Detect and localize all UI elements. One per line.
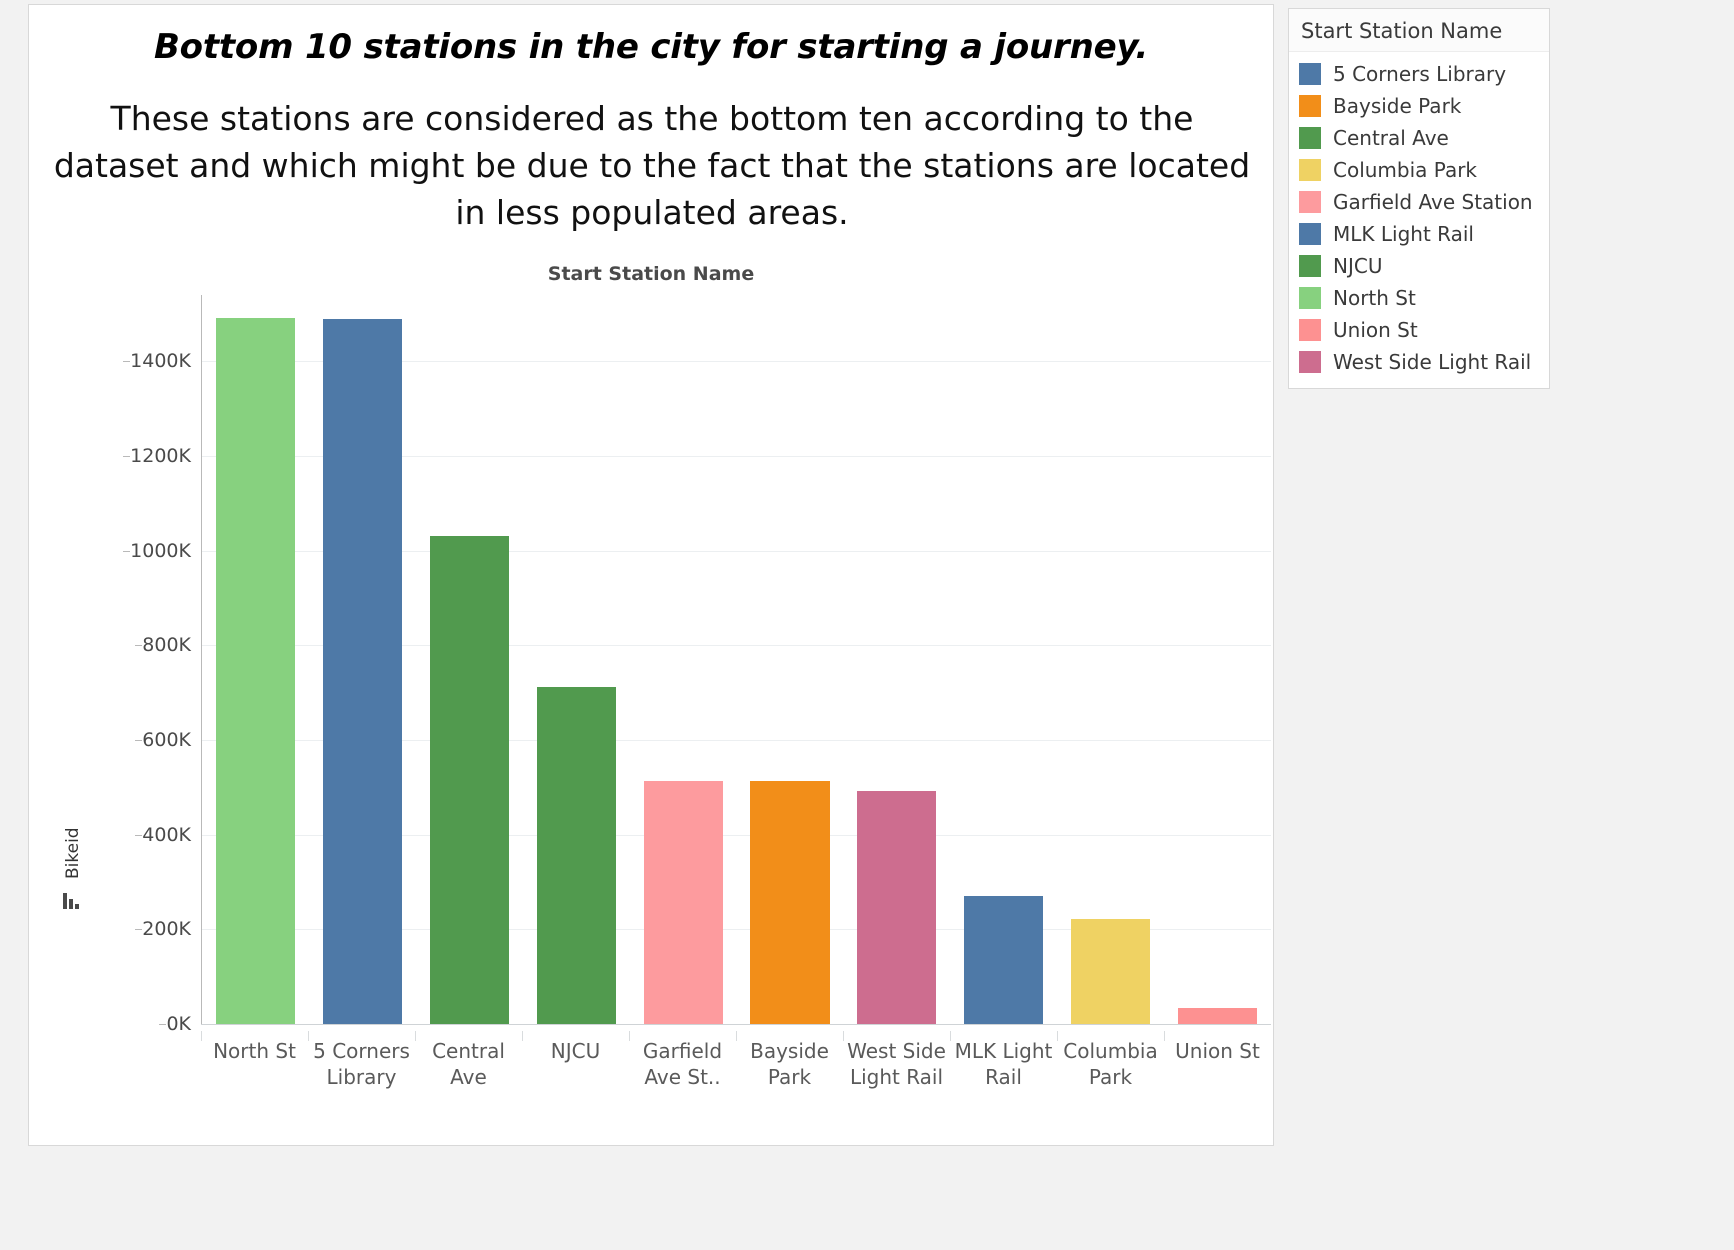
y-axis-tick-label: 1200K — [130, 445, 191, 467]
legend-item[interactable]: Central Ave — [1289, 122, 1549, 154]
x-axis-tick-divider — [1057, 1031, 1058, 1041]
y-axis-tick-label: 0K — [166, 1013, 191, 1035]
x-axis-tick-divider — [415, 1031, 416, 1041]
x-axis-tick-label[interactable]: Columbia Park — [1057, 1031, 1164, 1131]
x-axis-tick-text: Columbia Park — [1063, 1039, 1157, 1089]
visualization-card: Bottom 10 stations in the city for start… — [28, 4, 1274, 1146]
page-subtitle: These stations are considered as the bot… — [39, 95, 1265, 237]
x-axis-tick-divider — [629, 1031, 630, 1041]
legend-item-label: MLK Light Rail — [1333, 222, 1474, 246]
bar-slot — [309, 295, 416, 1024]
bar-slot — [416, 295, 523, 1024]
legend-item[interactable]: West Side Light Rail — [1289, 346, 1549, 378]
x-axis-tick-text: West Side Light Rail — [847, 1039, 946, 1089]
x-axis-tick-label[interactable]: Bayside Park — [736, 1031, 843, 1131]
bar-slot — [950, 295, 1057, 1024]
legend-item[interactable]: Bayside Park — [1289, 90, 1549, 122]
legend-item-label: Bayside Park — [1333, 94, 1461, 118]
x-axis-line — [201, 1024, 1271, 1025]
y-axis-tick-label: 800K — [142, 634, 191, 656]
x-axis-tick-text: Bayside Park — [750, 1039, 829, 1089]
screenshot-root: Bottom 10 stations in the city for start… — [0, 0, 1734, 1250]
y-axis-tick-mark — [135, 929, 142, 930]
legend-item-label: West Side Light Rail — [1333, 350, 1531, 374]
bar-slot — [843, 295, 950, 1024]
legend-item-label: Garfield Ave Station — [1333, 190, 1533, 214]
x-axis-tick-label[interactable]: NJCU — [522, 1031, 629, 1131]
bar-chart-icon — [63, 891, 83, 909]
bar[interactable] — [537, 687, 616, 1024]
x-axis-tick-text: NJCU — [551, 1039, 600, 1063]
bar-series — [202, 295, 1271, 1024]
y-axis-title: Bikeid — [63, 855, 83, 879]
x-axis-tick-text: Central Ave — [432, 1039, 505, 1089]
legend-item[interactable]: North St — [1289, 282, 1549, 314]
bar[interactable] — [964, 896, 1043, 1024]
legend-panel: Start Station Name 5 Corners LibraryBays… — [1288, 8, 1550, 389]
page-title: Bottom 10 stations in the city for start… — [29, 27, 1273, 67]
chart-header-title: Start Station Name — [29, 263, 1273, 285]
x-axis-tick-text: North St — [213, 1039, 296, 1063]
x-axis-tick-text: MLK Light Rail — [955, 1039, 1053, 1089]
bar[interactable] — [750, 781, 829, 1024]
y-axis-tick-label: 200K — [142, 918, 191, 940]
bar-slot — [1057, 295, 1164, 1024]
x-axis-tick-divider — [950, 1031, 951, 1041]
legend-item[interactable]: Union St — [1289, 314, 1549, 346]
bar[interactable] — [1178, 1008, 1257, 1024]
x-axis-tick-divider — [843, 1031, 844, 1041]
x-axis-tick-label[interactable]: 5 Corners Library — [308, 1031, 415, 1131]
legend-color-swatch[interactable] — [1299, 191, 1321, 213]
bar[interactable] — [857, 791, 936, 1024]
y-axis-tick-mark — [123, 456, 130, 457]
legend-item[interactable]: Garfield Ave Station — [1289, 186, 1549, 218]
bar[interactable] — [430, 536, 509, 1024]
y-axis-tick-mark — [135, 645, 142, 646]
y-axis-title-label: Bikeid — [63, 827, 83, 879]
x-axis-tick-divider — [308, 1031, 309, 1041]
x-axis-tick-divider — [1164, 1031, 1165, 1041]
legend-item-label: Columbia Park — [1333, 158, 1477, 182]
legend-color-swatch[interactable] — [1299, 127, 1321, 149]
plot-wrapper: Bikeid 0K200K400K600K800K1000K1200K1400K… — [29, 295, 1275, 1145]
x-axis-tick-label[interactable]: North St — [201, 1031, 308, 1131]
bar[interactable] — [1071, 919, 1150, 1024]
legend-item-label: North St — [1333, 286, 1416, 310]
legend-item[interactable]: NJCU — [1289, 250, 1549, 282]
bar-slot — [1164, 295, 1271, 1024]
legend-title: Start Station Name — [1289, 9, 1549, 52]
x-axis-tick-text: Union St — [1175, 1039, 1260, 1063]
legend-item-list: 5 Corners LibraryBayside ParkCentral Ave… — [1289, 52, 1549, 378]
y-axis-tick-mark — [135, 835, 142, 836]
x-axis-tick-label[interactable]: Central Ave — [415, 1031, 522, 1131]
legend-item-label: Union St — [1333, 318, 1418, 342]
y-axis-tick-label: 600K — [142, 729, 191, 751]
y-axis-tick-mark — [123, 551, 130, 552]
plot-area — [201, 295, 1271, 1024]
y-axis-tick-mark — [159, 1024, 166, 1025]
bar[interactable] — [323, 319, 402, 1024]
bar[interactable] — [644, 781, 723, 1024]
x-axis-labels: North St5 Corners LibraryCentral AveNJCU… — [201, 1031, 1271, 1131]
bar-slot — [523, 295, 630, 1024]
x-axis-tick-label[interactable]: West Side Light Rail — [843, 1031, 950, 1131]
legend-item-label: Central Ave — [1333, 126, 1449, 150]
x-axis-tick-divider — [736, 1031, 737, 1041]
y-axis-tick-label: 1000K — [130, 540, 191, 562]
legend-color-swatch[interactable] — [1299, 159, 1321, 181]
legend-item[interactable]: 5 Corners Library — [1289, 58, 1549, 90]
legend-color-swatch[interactable] — [1299, 255, 1321, 277]
x-axis-tick-label[interactable]: Garfield Ave St.. — [629, 1031, 736, 1131]
legend-color-swatch[interactable] — [1299, 319, 1321, 341]
legend-color-swatch[interactable] — [1299, 95, 1321, 117]
bar-slot — [630, 295, 737, 1024]
bar-slot — [737, 295, 844, 1024]
x-axis-tick-divider — [522, 1031, 523, 1041]
legend-item[interactable]: MLK Light Rail — [1289, 218, 1549, 250]
legend-color-swatch[interactable] — [1299, 63, 1321, 85]
y-axis-tick-mark — [123, 361, 130, 362]
y-axis-tick-label: 1400K — [130, 350, 191, 372]
legend-color-swatch[interactable] — [1299, 287, 1321, 309]
legend-color-swatch[interactable] — [1299, 223, 1321, 245]
x-axis-tick-text: 5 Corners Library — [313, 1039, 410, 1089]
bar-slot — [202, 295, 309, 1024]
y-axis-tick-mark — [135, 740, 142, 741]
legend-item[interactable]: Columbia Park — [1289, 154, 1549, 186]
x-axis-tick-label[interactable]: MLK Light Rail — [950, 1031, 1057, 1131]
bar[interactable] — [216, 318, 295, 1024]
x-axis-tick-text: Garfield Ave St.. — [643, 1039, 722, 1089]
x-axis-tick-divider — [201, 1031, 202, 1041]
y-axis-tick-label: 400K — [142, 824, 191, 846]
legend-color-swatch[interactable] — [1299, 351, 1321, 373]
legend-item-label: 5 Corners Library — [1333, 62, 1506, 86]
legend-item-label: NJCU — [1333, 254, 1382, 278]
x-axis-tick-label[interactable]: Union St — [1164, 1031, 1271, 1131]
